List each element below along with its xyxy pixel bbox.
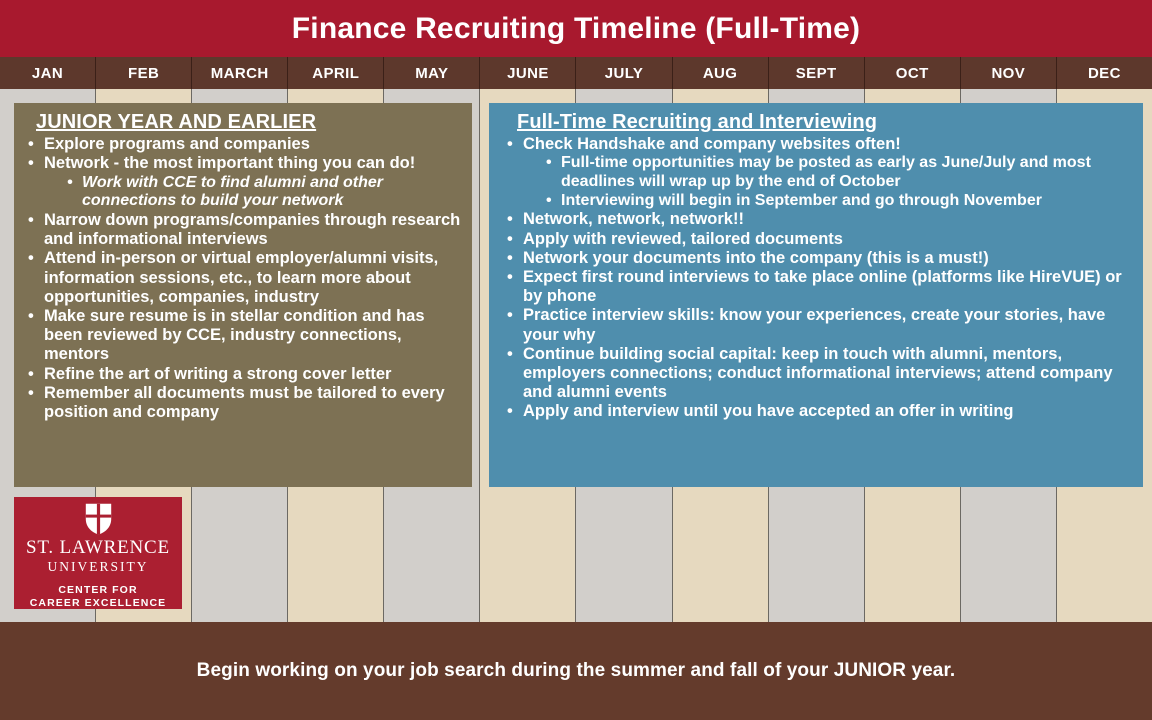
month-header-row: JANFEBMARCHAPRILMAYJUNEJULYAUGSEPTOCTNOV… xyxy=(0,57,1152,89)
list-item-text: Expect first round interviews to take pl… xyxy=(523,268,1122,305)
month-header-nov: NOV xyxy=(961,57,1057,89)
list-item-text: Practice interview skills: know your exp… xyxy=(523,306,1105,343)
list-item: Network your documents into the company … xyxy=(505,249,1133,268)
list-item: Continue building social capital: keep i… xyxy=(505,345,1133,403)
list-item: Practice interview skills: know your exp… xyxy=(505,306,1133,344)
list-item-text: Network your documents into the company … xyxy=(523,249,989,267)
month-header-april: APRIL xyxy=(288,57,384,89)
month-header-jan: JAN xyxy=(0,57,96,89)
list-item-text: Refine the art of writing a strong cover… xyxy=(44,365,391,383)
junior-year-panel: JUNIOR YEAR AND EARLIER Explore programs… xyxy=(14,103,472,487)
list-item: Network - the most important thing you c… xyxy=(26,154,462,210)
month-header-june: JUNE xyxy=(480,57,576,89)
list-item-text: Explore programs and companies xyxy=(44,135,310,153)
list-item-text: Network, network, network!! xyxy=(523,210,744,228)
list-item-text: Apply with reviewed, tailored documents xyxy=(523,230,843,248)
full-time-recruiting-bullet-list: Check Handshake and company websites oft… xyxy=(505,135,1133,422)
month-header-dec: DEC xyxy=(1057,57,1152,89)
month-header-july: JULY xyxy=(576,57,672,89)
month-header-aug: AUG xyxy=(673,57,769,89)
list-item: Make sure resume is in stellar condition… xyxy=(26,307,462,365)
sub-list-item: Work with CCE to find alumni and other c… xyxy=(66,174,462,211)
list-item-text: Remember all documents must be tailored … xyxy=(44,384,445,421)
sub-list: Work with CCE to find alumni and other c… xyxy=(44,174,462,211)
footer-banner: Begin working on your job search during … xyxy=(0,622,1152,720)
month-header-oct: OCT xyxy=(865,57,961,89)
full-time-recruiting-panel: Full-Time Recruiting and Interviewing Ch… xyxy=(489,103,1143,487)
junior-year-bullet-list: Explore programs and companiesNetwork - … xyxy=(26,135,462,422)
sub-list: Full-time opportunities may be posted as… xyxy=(523,154,1133,210)
list-item: Apply with reviewed, tailored documents xyxy=(505,230,1133,249)
sub-list-item: Interviewing will begin in September and… xyxy=(545,192,1133,211)
list-item: Remember all documents must be tailored … xyxy=(26,384,462,422)
list-item-text: Apply and interview until you have accep… xyxy=(523,402,1014,420)
logo-center-line-1: CENTER FOR xyxy=(58,584,137,597)
month-header-may: MAY xyxy=(384,57,480,89)
month-header-feb: FEB xyxy=(96,57,192,89)
list-item: Apply and interview until you have accep… xyxy=(505,402,1133,421)
logo-university-name: ST. LAWRENCE xyxy=(26,538,170,557)
poster-title-bar: Finance Recruiting Timeline (Full-Time) xyxy=(0,0,1152,57)
shield-icon xyxy=(85,503,112,535)
list-item: Expect first round interviews to take pl… xyxy=(505,268,1133,306)
logo-center-line-2: CAREER EXCELLENCE xyxy=(30,597,167,610)
junior-year-panel-heading: JUNIOR YEAR AND EARLIER xyxy=(36,111,462,134)
month-header-march: MARCH xyxy=(192,57,288,89)
list-item-text: Network - the most important thing you c… xyxy=(44,154,415,172)
list-item-text: Narrow down programs/companies through r… xyxy=(44,211,460,248)
list-item: Network, network, network!! xyxy=(505,210,1133,229)
list-item-text: Attend in-person or virtual employer/alu… xyxy=(44,249,438,305)
page-title: Finance Recruiting Timeline (Full-Time) xyxy=(292,12,860,46)
sub-list-item: Full-time opportunities may be posted as… xyxy=(545,154,1133,191)
list-item-text: Make sure resume is in stellar condition… xyxy=(44,307,425,363)
footer-message: Begin working on your job search during … xyxy=(197,660,956,682)
full-time-recruiting-panel-heading: Full-Time Recruiting and Interviewing xyxy=(517,111,1133,134)
st-lawrence-university-logo: ST. LAWRENCE UNIVERSITY CENTER FOR CAREE… xyxy=(14,497,182,609)
list-item: Attend in-person or virtual employer/alu… xyxy=(26,249,462,307)
list-item: Check Handshake and company websites oft… xyxy=(505,135,1133,210)
list-item: Refine the art of writing a strong cover… xyxy=(26,365,462,384)
month-header-sept: SEPT xyxy=(769,57,865,89)
list-item-text: Check Handshake and company websites oft… xyxy=(523,135,901,153)
finance-recruiting-timeline-poster: Finance Recruiting Timeline (Full-Time) … xyxy=(0,0,1152,720)
list-item-text: Continue building social capital: keep i… xyxy=(523,345,1113,401)
logo-university-subname: UNIVERSITY xyxy=(48,560,149,574)
list-item: Explore programs and companies xyxy=(26,135,462,154)
list-item: Narrow down programs/companies through r… xyxy=(26,211,462,249)
